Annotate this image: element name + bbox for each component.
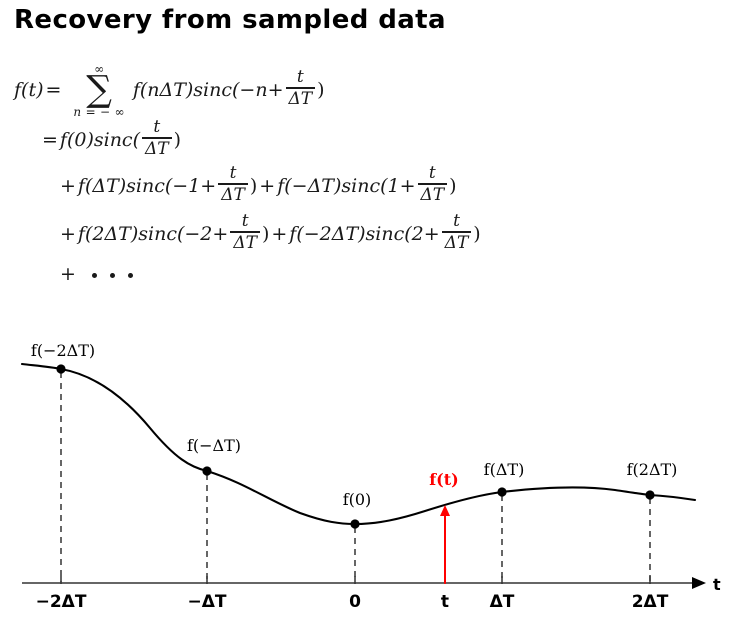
x-axis-name: t [713, 575, 721, 594]
tick-label: 2ΔT [632, 592, 669, 612]
sample-point [497, 487, 506, 496]
x-axis [22, 577, 706, 589]
point-label: f(ΔT) [484, 460, 525, 479]
point-label: f(0) [343, 490, 372, 509]
point-label: f(−2ΔT) [31, 341, 95, 360]
function-plot [0, 0, 740, 617]
sample-point [202, 466, 211, 475]
slide-page: Recovery from sampled data f(t) = ∞ ∑ n … [0, 0, 740, 617]
highlight-arrow-ft [440, 505, 450, 584]
point-label: f(2ΔT) [627, 460, 678, 479]
x-axis-arrowhead [692, 577, 706, 589]
point-label: f(t) [429, 470, 458, 489]
sample-point [56, 364, 65, 373]
tick-label: −ΔT [188, 592, 227, 612]
tick-label: t [441, 592, 449, 612]
tick-label: −2ΔT [36, 592, 87, 612]
sample-drop-lines [61, 372, 650, 584]
sample-point [350, 519, 359, 528]
point-label: f(−ΔT) [187, 436, 241, 455]
tick-label: ΔT [490, 592, 515, 612]
sample-point [645, 490, 654, 499]
tick-label: 0 [349, 592, 361, 612]
